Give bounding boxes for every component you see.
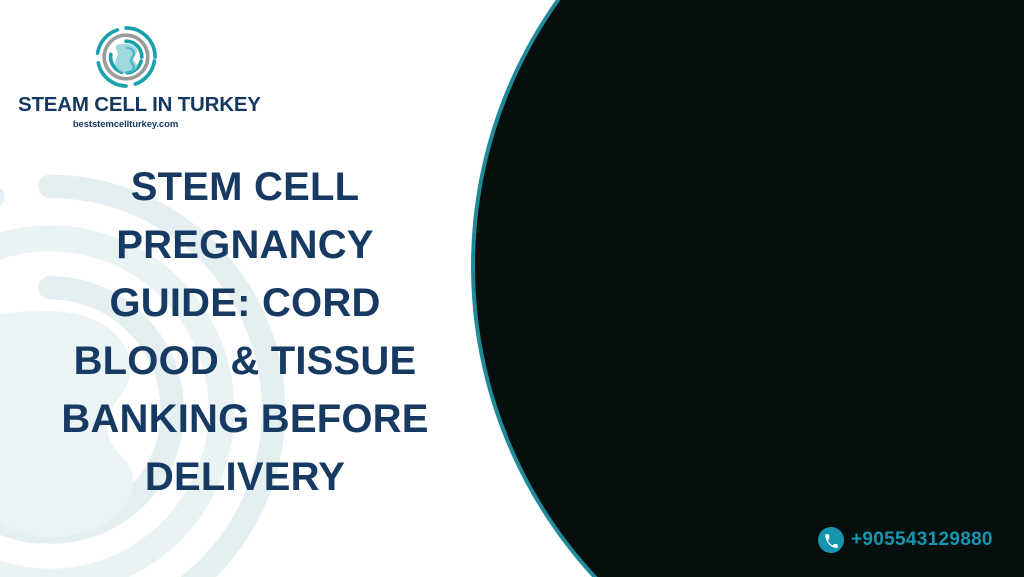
headline-line-2: PREGNANCY (30, 216, 460, 274)
contact-phone-badge[interactable]: +905543129880 (818, 527, 993, 553)
poster-canvas: STEAM CELL IN TURKEY beststemcellturkey.… (0, 0, 1024, 577)
phone-icon (818, 527, 844, 553)
stem-cell-ring-icon (93, 24, 159, 90)
phone-number: +905543129880 (851, 529, 993, 551)
page-title: STEM CELL PREGNANCY GUIDE: CORD BLOOD & … (30, 158, 460, 506)
aperture-shadow-crescent (473, 0, 1024, 577)
brand-logo[interactable]: STEAM CELL IN TURKEY beststemcellturkey.… (18, 24, 233, 130)
headline-line-1: STEM CELL (30, 158, 460, 216)
headline-line-4: BLOOD & TISSUE (30, 332, 460, 390)
microscope-hero-image (473, 0, 1024, 577)
brand-website: beststemcellturkey.com (18, 119, 233, 130)
headline-line-5: BANKING BEFORE (30, 390, 460, 448)
brand-name: STEAM CELL IN TURKEY (18, 94, 233, 116)
headline-line-6: DELIVERY (30, 448, 460, 506)
headline-line-3: GUIDE: CORD (30, 274, 460, 332)
